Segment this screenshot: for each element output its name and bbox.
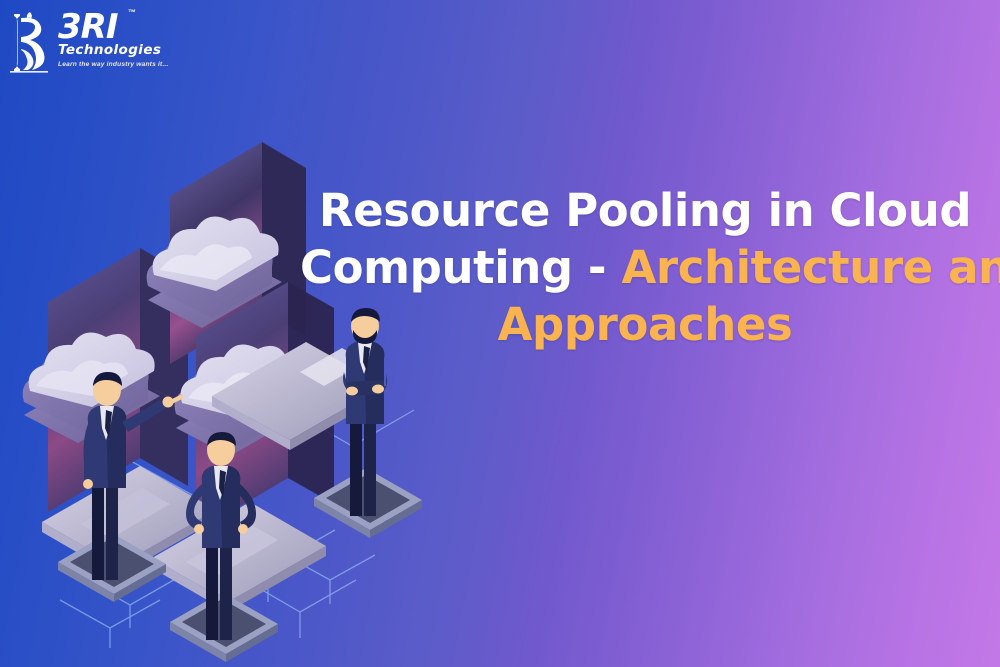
- trademark-symbol: ™: [128, 8, 136, 17]
- title-line-2-accent: Architecture and: [621, 241, 1000, 294]
- brand-wordmark: ™ 3RI Technologies Learn the way industr…: [58, 12, 169, 68]
- brand-tagline: Learn the way industry wants it...: [58, 61, 169, 68]
- brand-name: 3RI: [58, 12, 169, 43]
- banner-container: ™ 3RI Technologies Learn the way industr…: [0, 0, 1000, 667]
- title-line-2: Computing - Architecture and: [300, 239, 990, 296]
- page-title: Resource Pooling in Cloud Computing - Ar…: [300, 182, 990, 353]
- title-line-2-white: Computing -: [300, 241, 621, 294]
- title-line-3: Approaches: [300, 296, 990, 353]
- brand-subtitle: Technologies: [58, 44, 169, 58]
- 3ri-monogram-icon: [8, 10, 54, 74]
- brand-logo[interactable]: ™ 3RI Technologies Learn the way industr…: [8, 6, 176, 82]
- title-line-1: Resource Pooling in Cloud: [300, 182, 990, 239]
